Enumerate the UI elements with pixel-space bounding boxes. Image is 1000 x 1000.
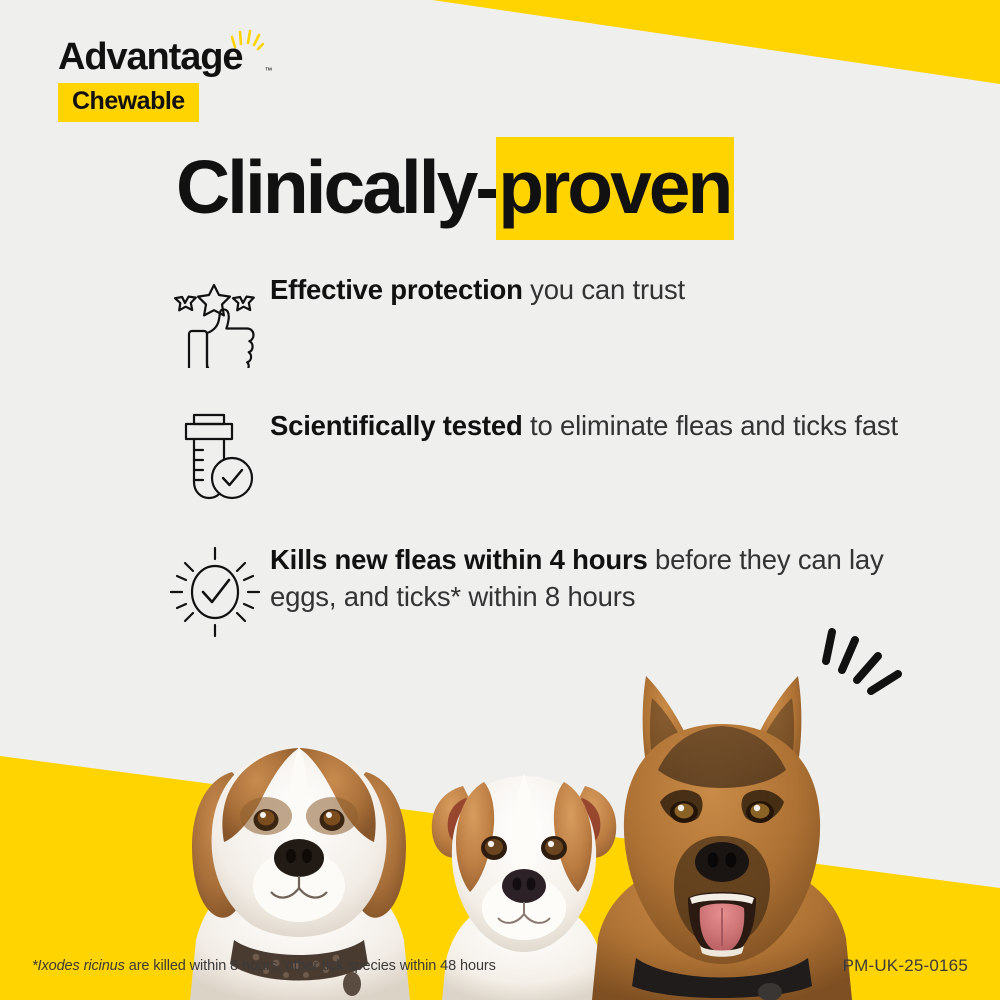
feature-list: Effective protection you can trust bbox=[160, 272, 900, 640]
brand-logo: Advantage ™ Chewable bbox=[58, 38, 378, 122]
feature-text: Kills new fleas within 4 hours before th… bbox=[270, 540, 900, 615]
feature-text: Scientifically tested to eliminate fleas… bbox=[270, 406, 900, 445]
list-item: Scientifically tested to eliminate fleas… bbox=[160, 406, 900, 502]
three-dogs-photo bbox=[0, 640, 1000, 1000]
approval-code: PM-UK-25-0165 bbox=[843, 956, 968, 976]
sparkle-burst-icon bbox=[230, 25, 264, 51]
page-title: Clinically-proven bbox=[176, 150, 734, 225]
list-item: Effective protection you can trust bbox=[160, 272, 900, 368]
feature-text-bold: Kills new fleas within 4 hours bbox=[270, 544, 648, 575]
advertisement-canvas: Advantage ™ Chewable Clinically-proven bbox=[0, 0, 1000, 1000]
footnote-species: *Ixodes ricinus bbox=[32, 958, 125, 974]
headline-plain: Clinically- bbox=[176, 145, 497, 229]
feature-icon-slot bbox=[160, 272, 270, 368]
feature-text: Effective protection you can trust bbox=[270, 272, 900, 309]
footnote: *Ixodes ricinus are killed within 8 hour… bbox=[32, 958, 496, 974]
trademark-symbol: ™ bbox=[264, 66, 272, 75]
feature-text-rest: you can trust bbox=[523, 274, 685, 305]
footnote-rest: are killed within 8 hours, other tick sp… bbox=[125, 958, 496, 974]
brand-wordmark: Advantage bbox=[58, 36, 242, 78]
feature-text-bold: Effective protection bbox=[270, 274, 523, 305]
radiant-check-icon bbox=[167, 544, 263, 640]
brand-wordmark-wrap: Advantage ™ bbox=[58, 38, 242, 76]
feature-icon-slot bbox=[160, 540, 270, 640]
list-item: Kills new fleas within 4 hours before th… bbox=[160, 540, 900, 640]
chewable-badge: Chewable bbox=[58, 83, 199, 122]
feature-icon-slot bbox=[160, 406, 270, 502]
thumbs-up-stars-icon bbox=[169, 276, 261, 368]
headline-highlight: proven bbox=[496, 137, 734, 240]
feature-text-rest: to eliminate fleas and ticks fast bbox=[523, 410, 898, 441]
feature-text-bold: Scientifically tested bbox=[270, 410, 523, 441]
dog-german-shepherd bbox=[592, 676, 852, 1000]
test-tube-check-icon bbox=[169, 410, 261, 502]
